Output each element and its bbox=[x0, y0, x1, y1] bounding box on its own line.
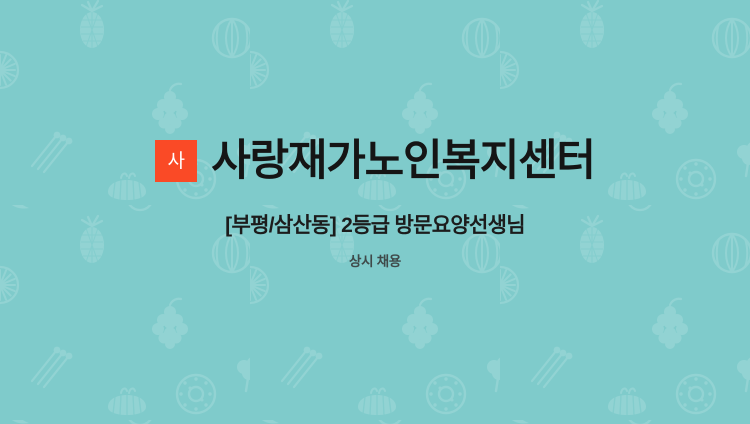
company-logo-badge: 사 bbox=[155, 140, 197, 182]
logo-badge-text: 사 bbox=[167, 152, 184, 171]
company-name: 사랑재가노인복지센터 bbox=[211, 140, 595, 183]
hiring-status: 상시 채용 bbox=[349, 254, 401, 270]
banner-content: 사 사랑재가노인복지센터 [부평/삼산동] 2등급 방문요양선생님 상시 채용 bbox=[0, 0, 750, 424]
job-posting-banner: 사 사랑재가노인복지센터 [부평/삼산동] 2등급 방문요양선생님 상시 채용 bbox=[0, 0, 750, 424]
job-title: [부평/삼산동] 2등급 방문요양선생님 bbox=[225, 213, 525, 238]
brand-row: 사 사랑재가노인복지센터 bbox=[155, 140, 595, 183]
